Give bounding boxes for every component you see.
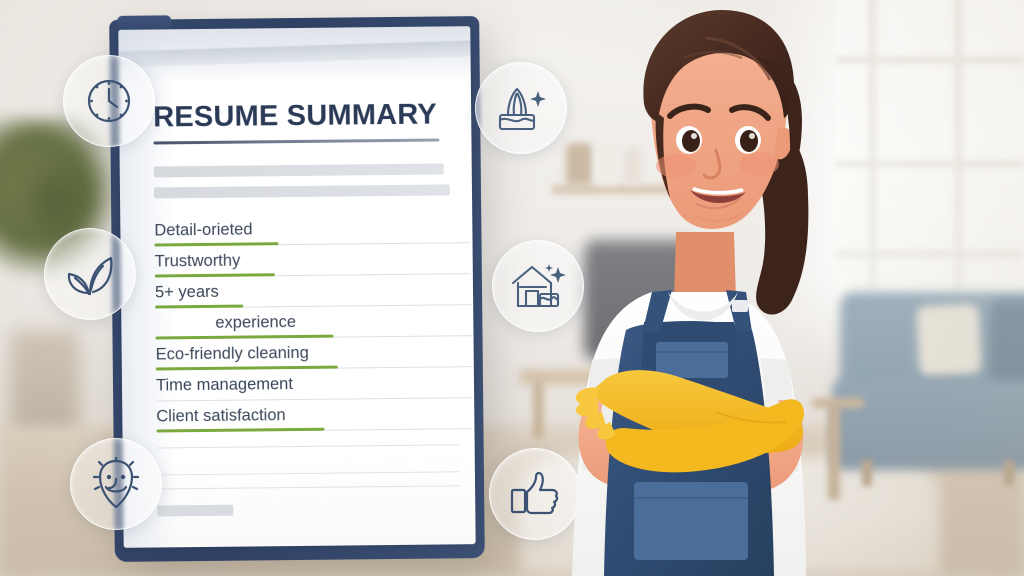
skill-label: Eco-friendly cleaning: [156, 343, 309, 365]
page-title: RESUME SUMMARY: [153, 100, 455, 132]
skill-highlight-underline: [155, 242, 279, 246]
leaf-icon[interactable]: [44, 228, 136, 320]
blush-right: [739, 152, 779, 176]
skill-label: 5+ years: [155, 282, 219, 303]
skill-row: Eco-friendly cleaning: [156, 341, 458, 375]
smiley-face-icon[interactable]: [70, 438, 162, 530]
resume-paper: RESUME SUMMARY Detail-orietedTrustworthy…: [118, 26, 475, 548]
skill-row: 5+ years: [155, 279, 457, 313]
placeholder-bar: [154, 184, 450, 198]
skill-highlight-underline: [155, 335, 333, 340]
skill-row: Client satisfaction: [156, 403, 458, 437]
skill-label: Detail-orieted: [154, 219, 252, 240]
skill-list: Detail-orietedTrustworthy5+ yearsexperie…: [154, 217, 458, 437]
blank-line: [157, 485, 459, 489]
smiley-face-icon-glyph: [90, 457, 142, 511]
skill-row: experience: [155, 310, 457, 344]
skill-highlight-underline: [155, 273, 275, 277]
placeholder-bar: [154, 163, 444, 177]
skill-highlight-underline: [155, 305, 243, 309]
skill-label: experience: [215, 312, 296, 333]
resume-clipboard[interactable]: RESUME SUMMARY Detail-orietedTrustworthy…: [109, 16, 485, 562]
skill-row: Time management: [156, 372, 458, 406]
skill-highlight-underline: [156, 428, 324, 433]
title-underline: [153, 139, 439, 145]
thumbs-up-icon-glyph: [508, 470, 562, 518]
blank-lines: [157, 444, 459, 489]
skill-ruled-line: [156, 397, 472, 401]
leaf-icon-glyph: [63, 250, 117, 298]
clock-icon[interactable]: [63, 55, 155, 147]
front-pocket: [634, 482, 748, 560]
neck: [674, 232, 736, 300]
blush-left: [656, 154, 696, 178]
skill-highlight-underline: [156, 366, 338, 371]
skill-row: Detail-orieted: [154, 217, 456, 251]
cleaning-professional-illustration: [556, 0, 886, 576]
skill-label: Trustworthy: [155, 251, 241, 272]
skill-label: Client satisfaction: [156, 405, 286, 426]
sparkle-clean-icon[interactable]: [475, 62, 567, 154]
skill-row: Trustworthy: [155, 248, 457, 282]
skill-label: Time management: [156, 374, 293, 395]
footer-placeholder-bar: [157, 505, 233, 517]
blank-line: [157, 471, 459, 475]
eye-left: [682, 130, 700, 152]
blank-line: [157, 444, 459, 448]
sparkle-clean-icon-glyph: [494, 82, 548, 134]
strap-buckle: [732, 300, 748, 312]
clock-icon-glyph: [83, 75, 135, 127]
bib-pocket: [656, 342, 728, 378]
eye-right: [740, 130, 758, 152]
